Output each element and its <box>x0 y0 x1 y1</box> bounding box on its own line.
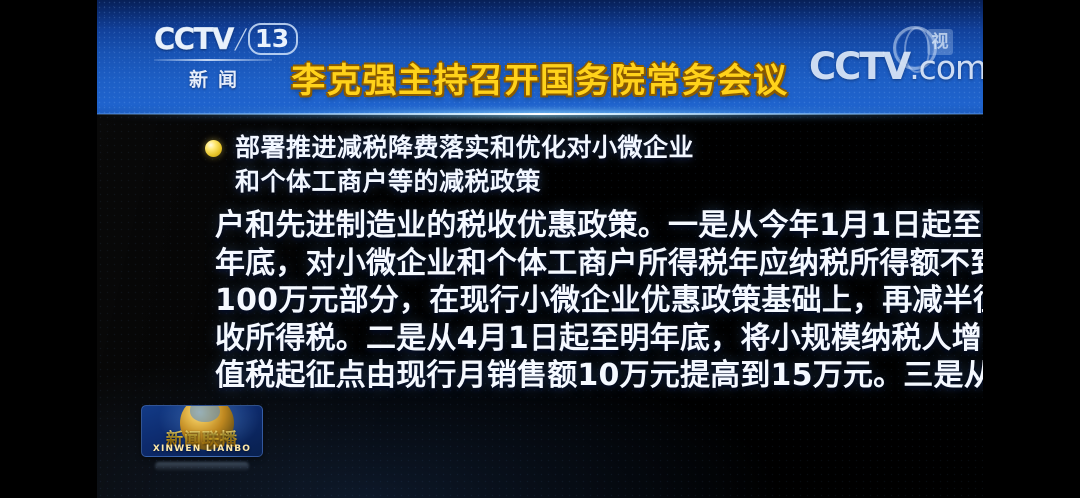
header-divider <box>97 110 983 118</box>
subtitle-line: 和个体工商户等的减税政策 <box>205 165 905 199</box>
broadcast-frame: CCTV / 13 新闻 视 CCTV.com 李克强主持召开国务院常务会议 部… <box>97 0 983 498</box>
body-line: 值税起征点由现行月销售额10万元提高到15万元。三是从 <box>215 357 983 395</box>
body-line: 户和先进制造业的税收优惠政策。一是从今年1月1日起至明 <box>215 207 983 245</box>
body-paragraph: 户和先进制造业的税收优惠政策。一是从今年1月1日起至明 年底，对小微企业和个体工… <box>215 207 983 395</box>
subtitle-line-text: 和个体工商户等的减税政策 <box>235 167 541 196</box>
subtitle-block: 部署推进减税降费落实和优化对小微企业 和个体工商户等的减税政策 <box>205 131 905 199</box>
subtitle-line: 部署推进减税降费落实和优化对小微企业 <box>205 131 905 165</box>
channel-slash-icon: / <box>233 26 248 53</box>
program-logo-xinwen-lianbo: 新闻联播 XINWEN LIANBO <box>141 405 263 457</box>
channel-number: 13 <box>248 23 298 55</box>
letterbox-left <box>0 0 97 498</box>
subtitle-line-text: 部署推进减税降费落实和优化对小微企业 <box>235 133 694 162</box>
body-line: 年底，对小微企业和个体工商户所得税年应纳税所得额不到 <box>215 245 983 283</box>
channel-wordmark: CCTV <box>154 25 233 54</box>
channel-logo-row: CCTV / 13 <box>154 22 294 56</box>
program-logo-reflection <box>155 462 249 471</box>
letterbox-right <box>983 0 1080 498</box>
program-logo-name-en: XINWEN LIANBO <box>142 444 262 454</box>
broadcast-screenshot: CCTV / 13 新闻 视 CCTV.com 李克强主持召开国务院常务会议 部… <box>0 0 1080 498</box>
program-logo-card: 新闻联播 XINWEN LIANBO <box>141 405 263 457</box>
body-line: 100万元部分，在现行小微企业优惠政策基础上，再减半征 <box>215 282 983 320</box>
gold-bullet-icon <box>205 140 222 157</box>
headline: 李克强主持召开国务院常务会议 <box>97 53 983 102</box>
divider-core <box>97 113 983 115</box>
body-line: 收所得税。二是从4月1日起至明年底，将小规模纳税人增 <box>215 320 983 358</box>
